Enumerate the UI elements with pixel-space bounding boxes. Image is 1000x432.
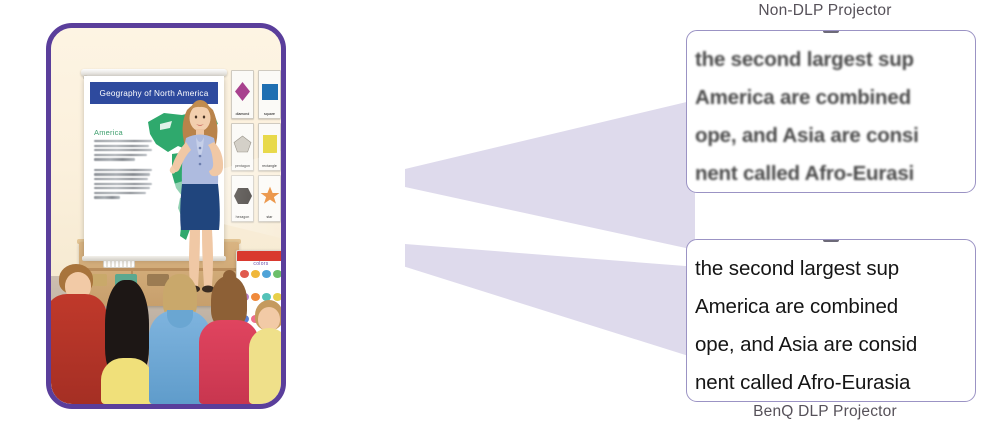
projector-screen-roller <box>81 69 227 76</box>
panel-line: ope, and Asia are consi <box>695 117 976 155</box>
slide-section-heading: America <box>94 128 123 137</box>
teacher-figure <box>169 90 231 305</box>
student-black-hair <box>99 280 155 404</box>
flashcard-label: star <box>266 216 272 220</box>
comparison-graphic: Geography of North America <box>0 0 1000 432</box>
flashcard-rectangle: rectangle <box>258 123 281 171</box>
flashcard-square: square <box>258 70 281 119</box>
flashcard-label: hexagon <box>236 216 250 220</box>
panel-notch <box>823 30 839 33</box>
flashcard-hexagon: hexagon <box>231 175 254 222</box>
panel-non-dlp-text: the second largest sup America are combi… <box>686 30 976 193</box>
flashcard-diamond: diamond <box>231 70 254 119</box>
label-benq-dlp: BenQ DLP Projector <box>660 403 990 421</box>
panel-benq-dlp-text: the second largest sup America are combi… <box>686 239 976 402</box>
hexagon-icon <box>232 176 253 216</box>
diamond-icon <box>232 71 253 113</box>
classroom-photo-frame: Geography of North America <box>46 23 286 409</box>
flashcard-label: square <box>264 113 275 117</box>
flashcard-pentagon: pentagon <box>231 123 254 171</box>
panel-line: the second largest sup <box>695 250 976 288</box>
panel-notch <box>823 239 839 242</box>
label-non-dlp: Non-DLP Projector <box>660 2 990 20</box>
flashcard-label: diamond <box>236 113 250 117</box>
panel-line: ope, and Asia are consid <box>695 326 976 364</box>
flashcard-label: pentagon <box>235 165 250 169</box>
panel-line: America are combined <box>695 79 976 117</box>
student-red-shirt <box>51 264 105 404</box>
student-yellow-shirt <box>249 300 281 404</box>
panel-line: America are combined <box>695 288 976 326</box>
panel-line: nent called Afro-Eurasia <box>695 364 976 402</box>
flashcard-label: rectangle <box>262 165 277 169</box>
square-icon <box>259 71 280 113</box>
poster-title: colors <box>237 261 281 267</box>
flashcard-star: star <box>258 175 281 222</box>
classroom-photo: Geography of North America <box>51 28 281 404</box>
callout-wedge-top <box>405 100 695 250</box>
rectangle-icon <box>259 124 280 165</box>
shape-flashcards: diamond square pentagon <box>231 70 281 222</box>
pentagon-icon <box>232 124 253 165</box>
panel-line: nent called Afro-Eurasi <box>695 155 976 193</box>
poster-header-band <box>237 251 281 261</box>
panel-line: the second largest sup <box>695 41 976 79</box>
slide-body-text <box>94 140 152 201</box>
star-icon <box>259 176 280 216</box>
